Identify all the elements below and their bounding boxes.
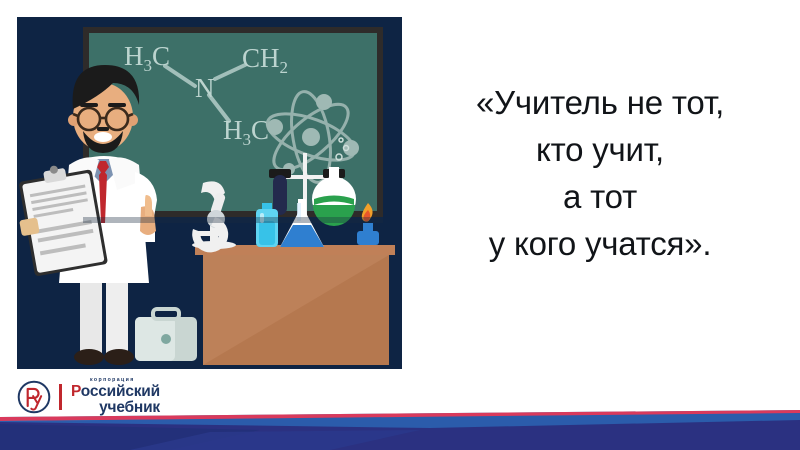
bottom-decorative-band <box>0 410 800 450</box>
quote-line-4: у кого учатся». <box>410 221 790 268</box>
logo-divider <box>59 384 62 410</box>
lab-desk <box>195 245 395 365</box>
quote-line-3: а тот <box>410 174 790 221</box>
logo-word-first: Российский <box>71 384 160 400</box>
classroom-illustration: H3C N CH2 H3C <box>17 17 402 369</box>
quote-text: «Учитель не тот, кто учит, а тот у кого … <box>410 80 790 267</box>
blue-bottle-icon <box>256 203 278 247</box>
slide-root: H3C N CH2 H3C <box>0 0 800 450</box>
quote-line-2: кто учит, <box>410 127 790 174</box>
formula-label-n: N <box>195 73 215 103</box>
illustration-panel: H3C N CH2 H3C <box>17 17 402 369</box>
logo-word-rest: оссийский <box>81 383 160 400</box>
logo-initial: Р <box>71 383 81 400</box>
quote-line-1: «Учитель не тот, <box>410 80 790 127</box>
